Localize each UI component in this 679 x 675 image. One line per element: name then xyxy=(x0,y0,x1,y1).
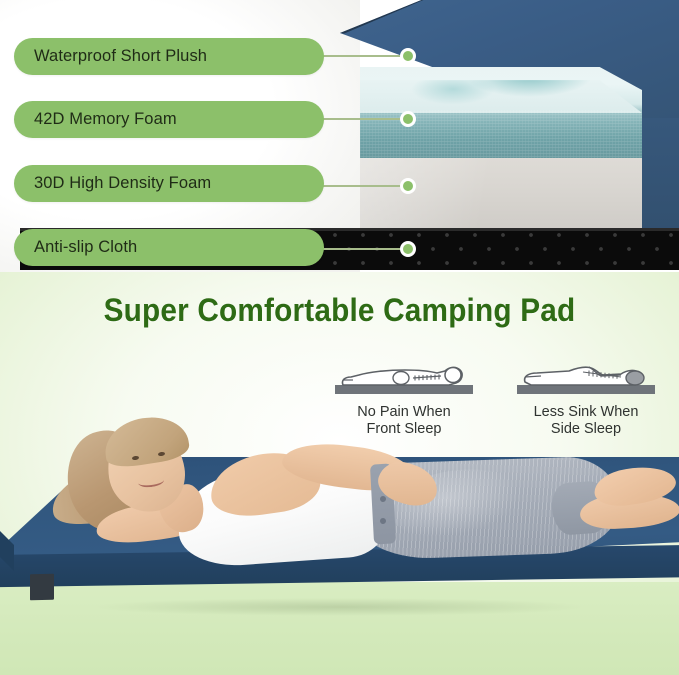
layer-label-text: Anti-slip Cloth xyxy=(34,238,137,257)
camping-pad-brand-tag xyxy=(30,574,54,601)
connector-line-anti-slip-cloth xyxy=(322,248,407,250)
person-lying-face-down-icon xyxy=(329,354,479,398)
connector-line-30d-high-density-foam xyxy=(322,185,407,187)
page-title: Super Comfortable Camping Pad xyxy=(24,292,655,329)
lifestyle-section: Super Comfortable Camping Pad xyxy=(0,272,679,675)
layer-label-text: Waterproof Short Plush xyxy=(34,47,207,66)
layer-label-30d-high-density-foam: 30D High Density Foam xyxy=(14,165,324,202)
callout-dot-waterproof-short-plush xyxy=(400,48,416,64)
callout-dot-30d-high-density-foam xyxy=(400,178,416,194)
layer-label-42d-memory-foam: 42D Memory Foam xyxy=(14,101,324,138)
callout-dot-anti-slip-cloth xyxy=(400,241,416,257)
layer-label-anti-slip-cloth: Anti-slip Cloth xyxy=(14,229,324,266)
product-infographic: Waterproof Short Plush 42D Memory Foam 3… xyxy=(0,0,679,675)
layer-label-text: 42D Memory Foam xyxy=(34,110,177,129)
high-density-foam-highlight xyxy=(360,158,642,230)
model-lying-on-pad xyxy=(60,412,660,602)
callout-dot-42d-memory-foam xyxy=(400,111,416,127)
camping-pad-photo xyxy=(0,457,679,675)
layer-label-text: 30D High Density Foam xyxy=(34,174,211,193)
layer-diagram-section: Waterproof Short Plush 42D Memory Foam 3… xyxy=(0,0,679,272)
layer-label-waterproof-short-plush: Waterproof Short Plush xyxy=(14,38,324,75)
connector-line-waterproof-short-plush xyxy=(322,55,407,57)
connector-line-42d-memory-foam xyxy=(322,118,407,120)
model-pants-button xyxy=(380,518,386,524)
person-lying-on-side-icon xyxy=(511,354,661,398)
model-pants-button xyxy=(380,496,386,502)
